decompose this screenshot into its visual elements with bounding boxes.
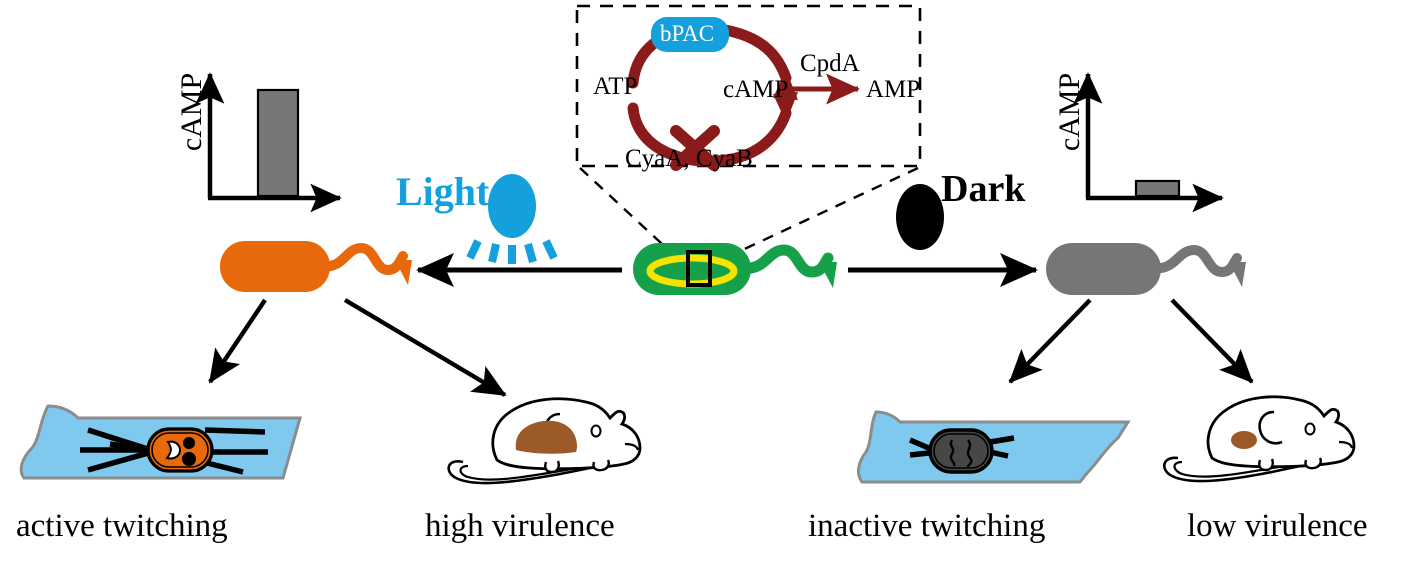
dark-ellipse-icon (896, 184, 944, 250)
active-colony-dot-1 (183, 437, 195, 449)
mouse-left-eye (592, 426, 601, 437)
gray-bacterium (1046, 243, 1246, 295)
light-bulb-body (488, 174, 536, 238)
active-colony-dot-2 (182, 452, 196, 466)
figure-canvas: cAMP cAMP Light Dark bPAC ATP cAMP CpdA … (0, 0, 1404, 564)
cya-enzymes-label: CyaA, CyaB (625, 145, 753, 173)
amp-label: AMP (866, 76, 920, 104)
mouse-right-foot-rear (1259, 459, 1273, 470)
inactive-plate-colony (930, 430, 992, 472)
left-camp-chart (208, 74, 340, 198)
green-bacterium-flagellum-tip (819, 262, 837, 288)
arrow-light-to-virulence (345, 300, 505, 395)
left-chart-bar-light (258, 90, 298, 196)
orange-bacterium-body (220, 241, 330, 292)
orange-bacterium-flagellum (330, 248, 403, 270)
gray-bacterium-body (1046, 243, 1161, 295)
green-bacterium-flagellum (751, 250, 828, 272)
camp-label: cAMP (723, 76, 788, 104)
caption-low-virulence: low virulence (1187, 508, 1368, 545)
right-chart-bar-dark (1136, 181, 1179, 196)
light-condition-label: Light (396, 168, 489, 215)
gray-bacterium-flagellum-tip (1229, 262, 1246, 287)
bpac-enzyme-label: bPAC (660, 21, 714, 47)
left-chart-y-axis-label: cAMP (175, 62, 209, 162)
diagram-vector-layer (0, 0, 1404, 564)
atp-label: ATP (593, 73, 637, 101)
active-twitching-plate (21, 406, 300, 478)
mouse-right-eye (1306, 424, 1315, 435)
low-virulence-mouse (1164, 397, 1354, 481)
mouse-left-foot-rear (545, 461, 559, 472)
light-bulb-rays (470, 241, 554, 264)
dark-condition-label: Dark (941, 167, 1025, 211)
orange-bacterium-flagellum-tip (395, 260, 412, 285)
gray-bacterium-flagellum (1161, 250, 1237, 272)
right-chart-y-axis-label: cAMP (1053, 62, 1087, 162)
arrow-dark-to-virulence (1172, 300, 1252, 382)
right-camp-chart (1086, 74, 1222, 198)
caption-active-twitching: active twitching (16, 508, 228, 545)
high-virulence-mouse (449, 399, 640, 483)
caption-high-virulence: high virulence (425, 508, 615, 545)
arrow-light-to-twitching (210, 300, 265, 382)
mouse-right-infection-patch (1231, 431, 1257, 449)
mouse-right-body (1208, 397, 1354, 467)
arrow-dark-to-twitching (1010, 300, 1090, 382)
caption-inactive-twitching: inactive twitching (808, 508, 1045, 545)
inactive-twitching-plate (859, 412, 1128, 482)
orange-bacterium (220, 241, 412, 292)
cpda-label: CpdA (800, 50, 860, 78)
green-bacterium (633, 243, 837, 295)
